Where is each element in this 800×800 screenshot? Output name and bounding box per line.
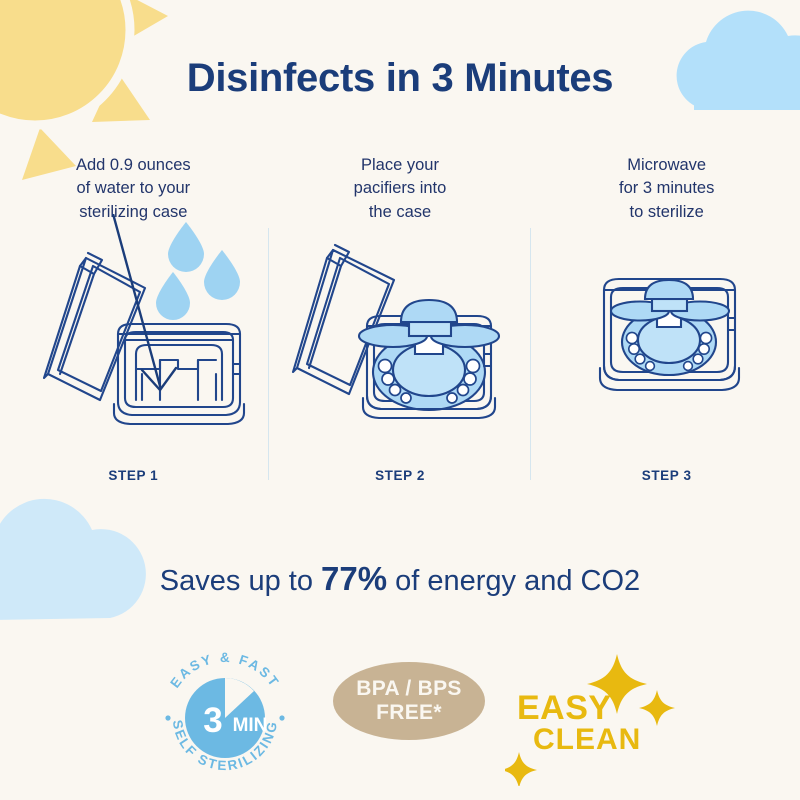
infographic-canvas: Disinfects in 3 Minutes Add 0.9 ounces o… <box>0 0 800 800</box>
savings-suffix: of energy and CO2 <box>387 565 640 597</box>
step-3-label: STEP 3 <box>642 468 692 483</box>
bpa-line-2: FREE* <box>376 701 442 725</box>
seal-dot-left <box>165 715 170 720</box>
badge-bpa-bps-free: BPA / BPS FREE* <box>333 662 485 740</box>
step-3-caption-line-1: Microwave <box>627 156 706 174</box>
seal-center-unit: MIN <box>233 715 268 736</box>
seal-dot-right <box>279 715 284 720</box>
savings-prefix: Saves up to <box>160 565 321 597</box>
step-1-label: STEP 1 <box>108 468 158 483</box>
easy-clean-line-2: CLEAN <box>533 725 641 754</box>
step-2-label: STEP 2 <box>375 468 425 483</box>
water-droplets <box>156 222 240 320</box>
bpa-line-1: BPA / BPS <box>356 677 461 701</box>
sparkle-small-icon <box>505 752 537 786</box>
step-1-caption-line-1: Add 0.9 ounces <box>76 156 191 174</box>
step-3-illustration <box>533 214 800 444</box>
step-3-caption-line-2: for 3 minutes <box>619 179 714 197</box>
step-1-caption-line-2: of water to your <box>76 179 190 197</box>
sparkle-medium-icon <box>639 690 675 726</box>
steps-section: Add 0.9 ounces of water to your steriliz… <box>0 150 800 500</box>
badge-easy-clean: EASY CLEAN <box>505 646 685 791</box>
savings-percent: 77% <box>321 560 387 597</box>
pacifier-graphic <box>611 280 729 375</box>
step-1-illustration <box>0 214 267 444</box>
step-3: Microwave for 3 minutes to sterilize <box>533 150 800 500</box>
easy-clean-text: EASY CLEAN <box>517 692 641 754</box>
step-2: Place your pacifiers into the case <box>267 150 534 500</box>
badges-row: EASY & FAST SELF STERILIZING 3 MIN BPA /… <box>0 640 800 790</box>
badge-self-sterilizing: EASY & FAST SELF STERILIZING 3 MIN <box>155 648 295 793</box>
step-2-caption-line-1: Place your <box>361 156 439 174</box>
easy-clean-line-1: EASY <box>517 692 641 725</box>
page-title: Disinfects in 3 Minutes <box>0 56 800 101</box>
savings-statement: Saves up to 77% of energy and CO2 <box>0 560 800 598</box>
step-2-illustration <box>267 214 534 444</box>
step-2-caption-line-2: pacifiers into <box>354 179 447 197</box>
seal-center-number: 3 <box>203 701 222 740</box>
step-1: Add 0.9 ounces of water to your steriliz… <box>0 150 267 500</box>
